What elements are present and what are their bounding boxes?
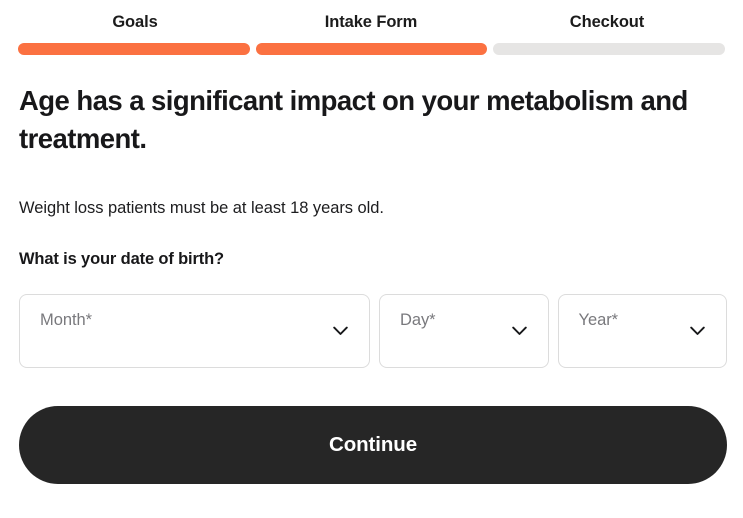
- month-select-placeholder: Month*: [40, 309, 92, 331]
- step-label-checkout: Checkout: [489, 10, 725, 34]
- chevron-down-icon: [333, 326, 348, 336]
- step-label-goals: Goals: [17, 10, 253, 34]
- onboarding-page: Goals Intake Form Checkout Age has a sig…: [0, 0, 743, 518]
- chevron-down-icon: [512, 326, 527, 336]
- continue-button[interactable]: Continue: [19, 406, 727, 484]
- month-select[interactable]: Month*: [19, 294, 370, 368]
- stepper-bars: [18, 43, 725, 55]
- stepper-labels: Goals Intake Form Checkout: [18, 10, 725, 34]
- progress-stepper: Goals Intake Form Checkout: [18, 10, 725, 56]
- page-title: Age has a significant impact on your met…: [19, 82, 719, 158]
- day-select[interactable]: Day*: [379, 294, 549, 368]
- step-label-intake-form: Intake Form: [253, 10, 489, 34]
- dob-question-label: What is your date of birth?: [19, 247, 719, 271]
- step-bar-goals: [18, 43, 250, 55]
- year-select-placeholder: Year*: [579, 309, 619, 331]
- step-bar-checkout: [493, 43, 725, 55]
- eligibility-note: Weight loss patients must be at least 18…: [19, 196, 719, 220]
- day-select-placeholder: Day*: [400, 309, 436, 331]
- date-of-birth-row: Month* Day* Year*: [19, 294, 727, 368]
- year-select[interactable]: Year*: [558, 294, 728, 368]
- step-bar-intake-form: [256, 43, 488, 55]
- chevron-down-icon: [690, 326, 705, 336]
